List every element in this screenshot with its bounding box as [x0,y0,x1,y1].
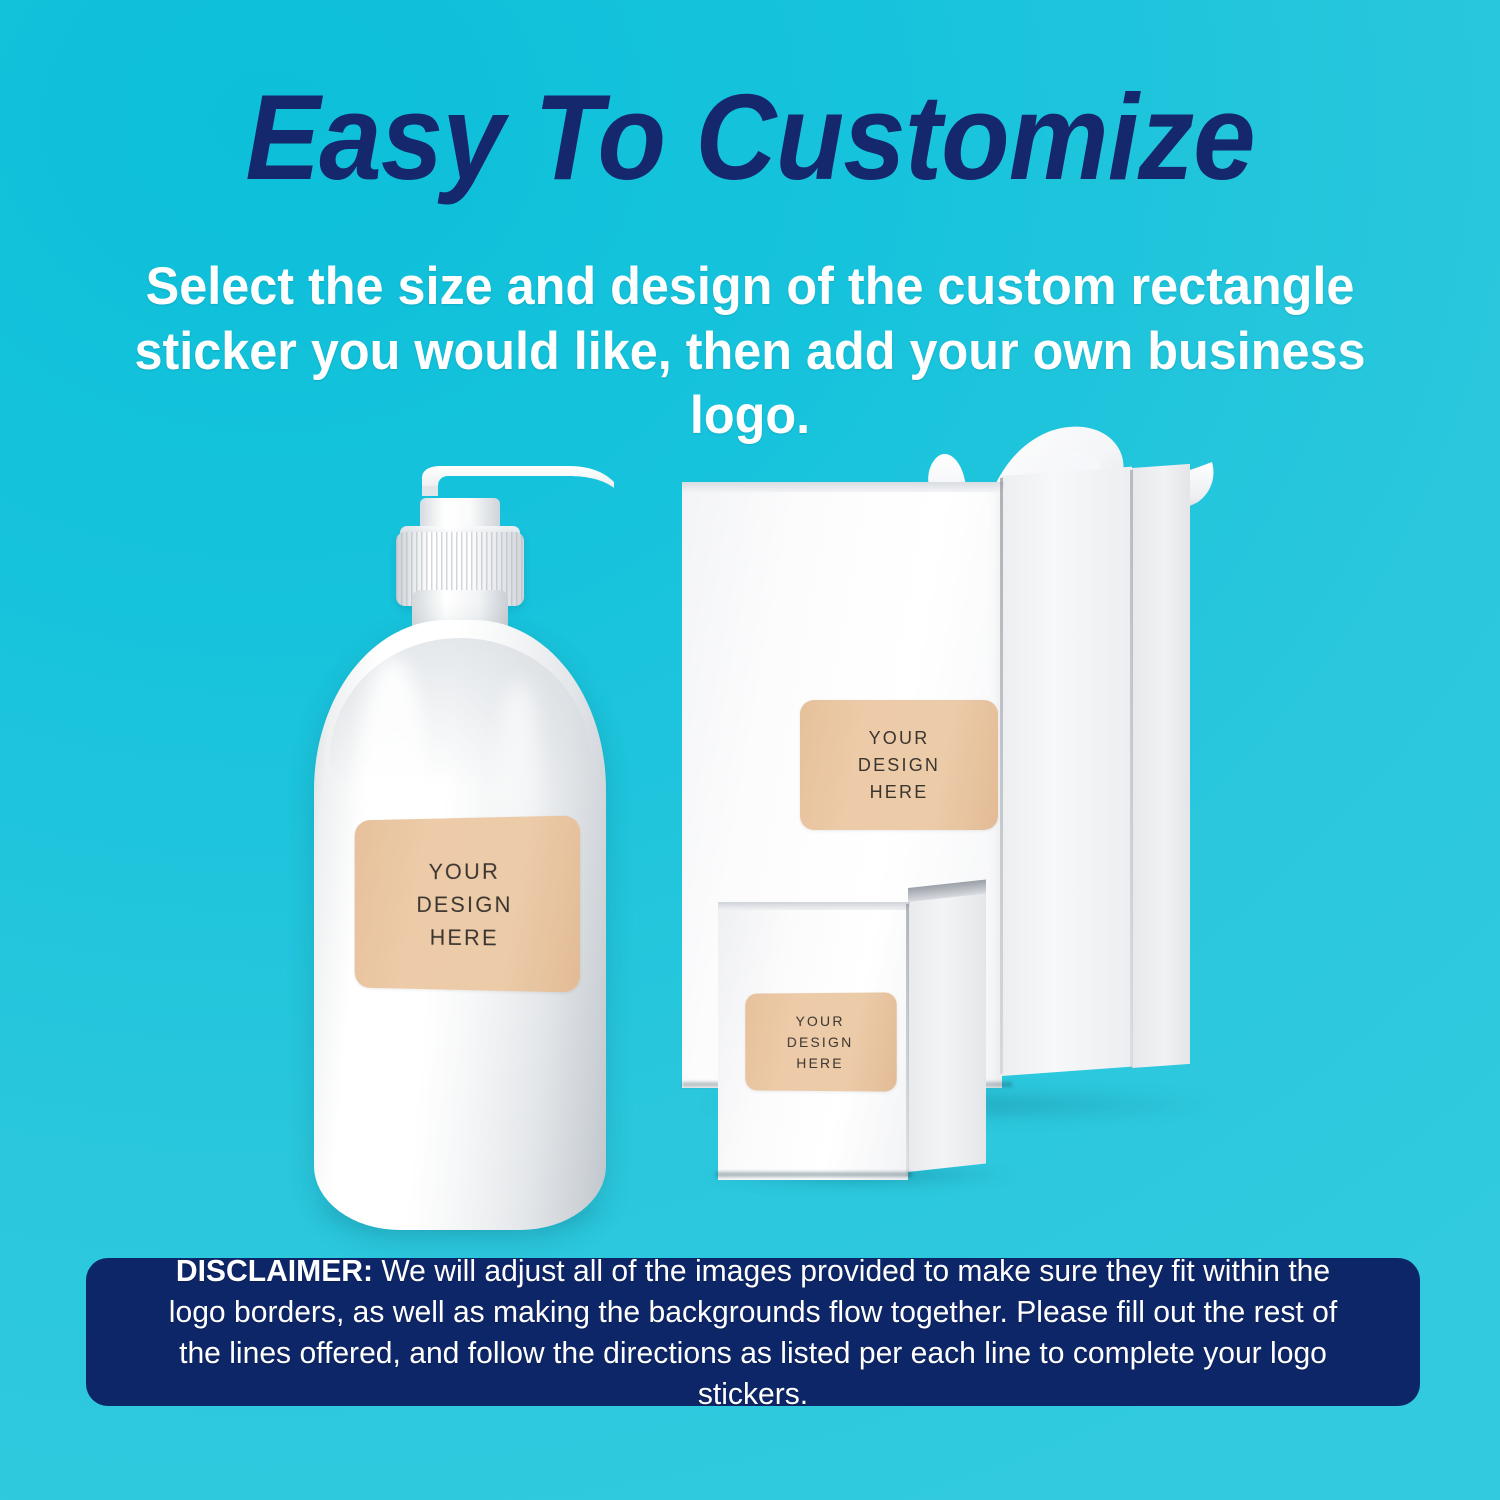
sticker-line-2: DESIGN [787,1031,854,1052]
sticker-label-bottle: YOUR DESIGN HERE [355,815,580,992]
small-box-side [908,892,986,1172]
gift-box-side [1002,467,1132,1076]
sticker-line-1: YOUR [869,725,930,752]
sticker-line-1: YOUR [429,854,500,888]
small-box-top-lip [718,902,910,910]
sticker-line-3: HERE [870,779,929,806]
pump-nozzle-icon [418,466,618,500]
sticker-label-gift-box: YOUR DESIGN HERE [800,700,998,830]
gift-box-far-side [1132,464,1190,1068]
gift-box-top-lip [682,482,1004,492]
sticker-line-1: YOUR [796,1010,845,1031]
gift-box-seam-far [1130,470,1133,1070]
sticker-line-3: HERE [796,1052,844,1073]
disclaimer-prefix: DISCLAIMER: [176,1253,373,1288]
disclaimer-banner: DISCLAIMER: We will adjust all of the im… [86,1258,1420,1406]
disclaimer-text: DISCLAIMER: We will adjust all of the im… [145,1250,1361,1415]
promo-graphic: Easy To Customize Select the size and de… [0,0,1500,1500]
sticker-line-2: DESIGN [416,887,512,920]
small-box-contact-line [716,1172,912,1177]
sticker-label-small-box: YOUR DESIGN HERE [745,992,896,1091]
sticker-line-2: DESIGN [858,752,940,779]
small-box-seam [906,904,909,1176]
sticker-line-3: HERE [430,920,499,954]
